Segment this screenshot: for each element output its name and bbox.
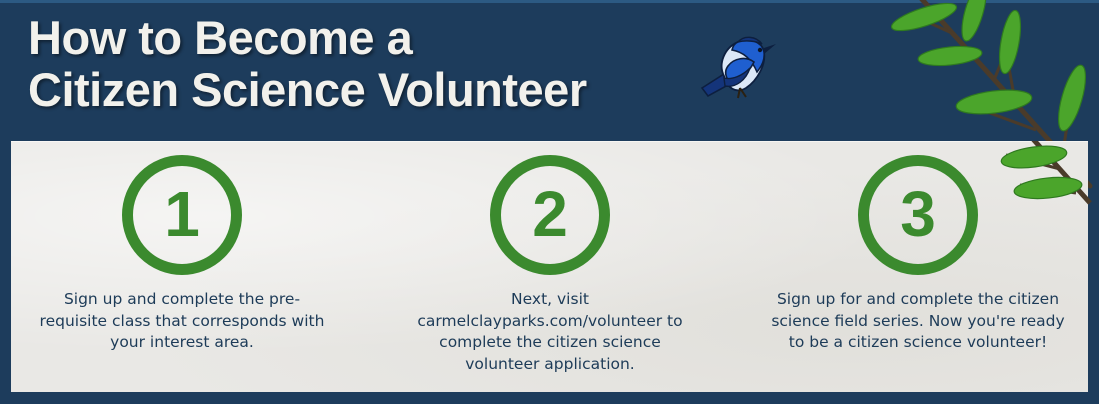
steps-row: 1 Sign up and complete the pre-requisite… — [11, 141, 1088, 392]
bluebird-icon — [694, 26, 780, 104]
step-1-number: 1 — [122, 155, 242, 275]
step-1: 1 Sign up and complete the pre-requisite… — [32, 141, 332, 392]
step-3-badge: 3 — [858, 155, 978, 275]
step-2-badge: 2 — [490, 155, 610, 275]
step-2: 2 Next, visit carmelclayparks.com/volunt… — [400, 141, 700, 392]
step-3: 3 Sign up for and complete the citizen s… — [768, 141, 1068, 392]
step-3-text: Sign up for and complete the citizen sci… — [768, 289, 1068, 354]
step-2-number: 2 — [490, 155, 610, 275]
step-3-number: 3 — [858, 155, 978, 275]
step-1-text: Sign up and complete the pre-requisite c… — [32, 289, 332, 354]
step-2-text: Next, visit carmelclayparks.com/voluntee… — [400, 289, 700, 375]
infographic-banner: How to Become a Citizen Science Voluntee… — [0, 0, 1099, 404]
step-1-badge: 1 — [122, 155, 242, 275]
